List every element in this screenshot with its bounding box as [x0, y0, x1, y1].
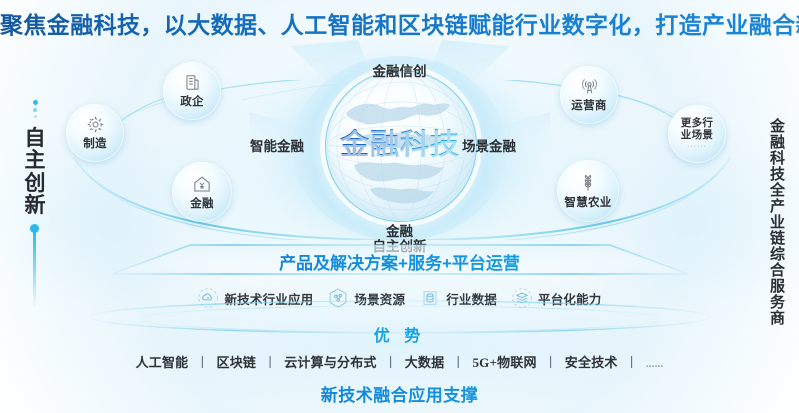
tech-separator: 丨 — [192, 355, 213, 370]
capabilities-row: 新技术行业应用 场景资源 行业数据 — [0, 287, 799, 309]
building-icon — [183, 73, 202, 92]
node-telecom-operator[interactable]: 运营商 — [560, 66, 618, 124]
bottom-band-label: 新技术融合应用支撑 — [0, 381, 799, 406]
node-more-scenarios[interactable]: 更多行 业场景 ······ — [668, 105, 726, 163]
cloud-icon — [197, 287, 219, 309]
tech-separator: 丨 — [380, 355, 401, 370]
wheat-icon — [578, 173, 598, 193]
tech-separator: 丨 — [540, 355, 561, 370]
tech-separator: 丨 — [448, 355, 469, 370]
left-vertical-label: 自 主 创 新 — [18, 128, 52, 217]
left-vertical-char-1: 自 — [18, 128, 52, 150]
left-vertical-char-4: 新 — [18, 195, 52, 217]
node-label-line-2: 业场景 — [681, 130, 713, 142]
center-label-top: 金融信创 — [0, 60, 799, 80]
capability-label: 新技术行业应用 — [224, 289, 313, 308]
core-label: 金融科技 — [318, 121, 482, 163]
tech-separator: 丨 — [260, 355, 281, 370]
left-decorative-dots — [30, 100, 40, 124]
tech-item: 安全技术 — [565, 355, 618, 370]
hexagon-network-icon — [327, 287, 349, 309]
capability-label: 场景资源 — [354, 289, 405, 308]
left-vertical-char-3: 创 — [18, 173, 52, 195]
tech-item: 云计算与分布式 — [284, 355, 376, 370]
layers-icon — [511, 287, 533, 309]
node-label: 金融 — [190, 195, 214, 211]
center-label-right: 场景金融 — [462, 135, 516, 155]
tech-list: 人工智能 丨 区块链 丨 云计算与分布式 丨 大数据 丨 5G+物联网 丨 安全… — [0, 352, 799, 371]
node-label: 制造 — [83, 135, 107, 151]
gear-icon — [86, 115, 105, 134]
tech-item: 大数据 — [405, 355, 445, 370]
capability-label: 行业数据 — [446, 289, 497, 308]
node-ellipsis: ······ — [687, 143, 707, 150]
tech-separator: 丨 — [621, 355, 642, 370]
node-label: 运营商 — [571, 97, 606, 113]
tech-item: 区块链 — [217, 355, 257, 370]
tech-item: 人工智能 — [136, 355, 189, 370]
node-finance[interactable]: 金融 — [172, 162, 232, 222]
antenna-icon — [580, 77, 599, 96]
capability-new-tech-application[interactable]: 新技术行业应用 — [197, 287, 313, 309]
left-vertical-char-2: 主 — [18, 150, 52, 172]
node-government-enterprise[interactable]: 政企 — [163, 62, 221, 120]
node-label: 政企 — [180, 93, 204, 109]
house-yuan-icon — [192, 174, 212, 194]
center-label-left: 智能金融 — [250, 135, 304, 155]
tech-list-ellipsis: ...... — [646, 358, 664, 370]
capability-platform-ability[interactable]: 平台化能力 — [511, 287, 602, 309]
products-band-label: 产品及解决方案+服务+平台运营 — [0, 249, 799, 274]
node-label: 智慧农业 — [564, 194, 611, 210]
capability-scenario-resources[interactable]: 场景资源 — [327, 287, 405, 309]
tech-item: 5G+物联网 — [472, 355, 536, 370]
infographic-canvas: 聚焦金融科技，以大数据、人工智能和区块链赋能行业数字化，打造产业融合新生态 自 … — [0, 0, 799, 413]
advantage-label: 优 势 — [0, 322, 799, 346]
page-title: 聚焦金融科技，以大数据、人工智能和区块链赋能行业数字化，打造产业融合新生态 — [0, 6, 799, 40]
node-manufacturing[interactable]: 制造 — [66, 104, 124, 162]
database-icon — [419, 287, 441, 309]
capability-label: 平台化能力 — [538, 289, 602, 308]
node-smart-agriculture[interactable]: 智慧农业 — [557, 160, 619, 222]
capability-industry-data[interactable]: 行业数据 — [419, 287, 497, 309]
